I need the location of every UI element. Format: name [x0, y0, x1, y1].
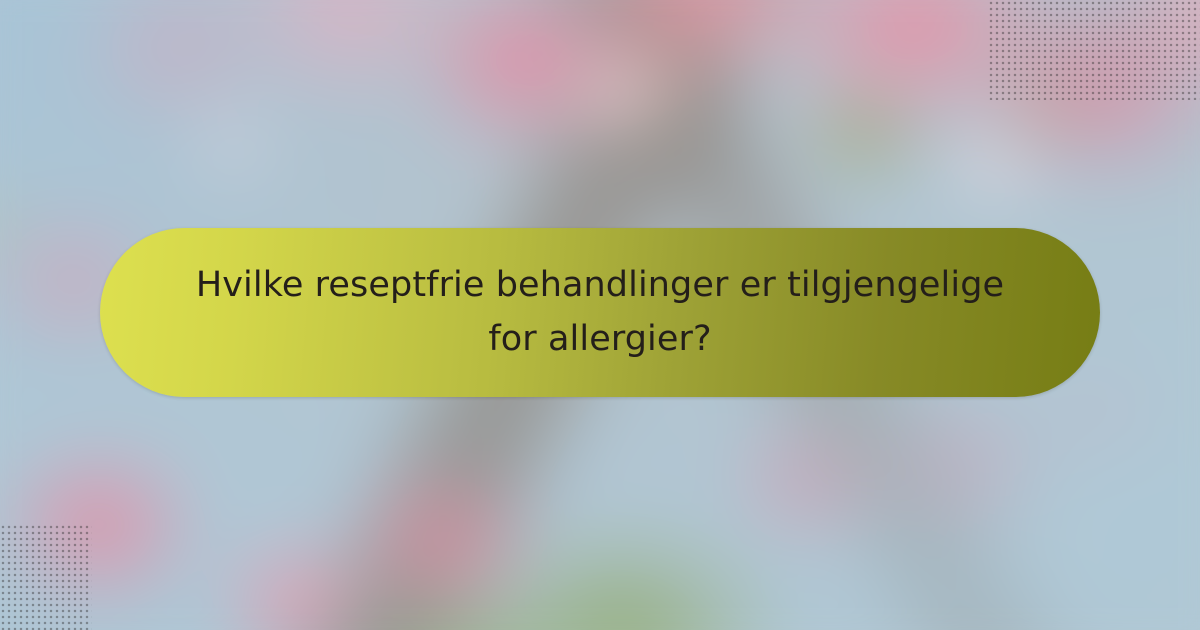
halftone-dot-grid-top-right-icon [988, 0, 1200, 100]
question-pill-banner: Hvilke reseptfrie behandlinger er tilgje… [100, 228, 1100, 397]
question-heading: Hvilke reseptfrie behandlinger er tilgje… [126, 259, 1074, 365]
halftone-dot-grid-bottom-left-icon [0, 524, 92, 630]
screenshot-canvas: Hvilke reseptfrie behandlinger er tilgje… [0, 0, 1200, 630]
